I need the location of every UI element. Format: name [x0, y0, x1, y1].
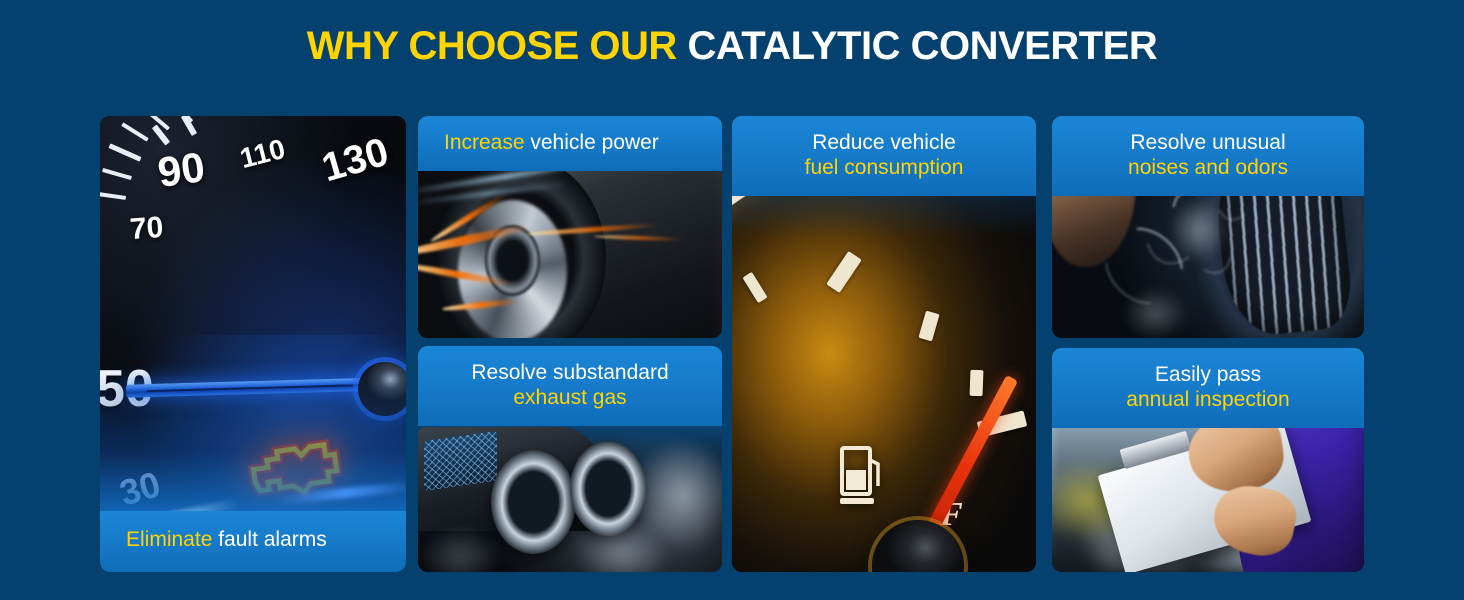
caption-line-2: noises and odors [1068, 155, 1348, 180]
card-reduce-vehicle-fuel-consumption[interactable]: F Reduce vehicle fuel consumption [732, 116, 1036, 572]
fuel-pump-icon [838, 446, 884, 508]
infographic-banner: WHY CHOOSE OUR CATALYTIC CONVERTER 130 1… [0, 0, 1464, 600]
card-resolve-unusual-noises-and-odors[interactable]: Resolve unusual noises and odors [1052, 116, 1364, 338]
card-caption-resolve-unusual-noises-and-odors: Resolve unusual noises and odors [1052, 116, 1364, 196]
card-caption-easily-pass-annual-inspection: Easily pass annual inspection [1052, 348, 1364, 428]
card-caption-eliminate-fault-alarms: Eliminate fault alarms [100, 511, 406, 572]
speedometer-image: 130 110 90 70 50 30 [100, 116, 406, 572]
title-highlight: WHY CHOOSE OUR [307, 24, 677, 68]
caption-line-1: Reduce vehicle [748, 130, 1020, 155]
caption-text: fault alarms [212, 528, 326, 551]
caption-text: vehicle power [525, 131, 659, 154]
caption-line-1: Resolve unusual [1068, 130, 1348, 155]
page-title: WHY CHOOSE OUR CATALYTIC CONVERTER [0, 24, 1464, 69]
card-caption-resolve-substandard-exhaust-gas: Resolve substandard exhaust gas [418, 346, 722, 426]
card-increase-vehicle-power[interactable]: Increase vehicle power [418, 116, 722, 338]
caption-line-2: fuel consumption [748, 155, 1020, 180]
speedometer-tick-90: 90 [155, 143, 208, 197]
caption-line-1: Resolve substandard [434, 360, 706, 385]
speedometer-tick-70: 70 [129, 211, 165, 247]
caption-highlight: Increase [444, 131, 525, 154]
caption-line-2: annual inspection [1068, 387, 1348, 412]
card-eliminate-fault-alarms[interactable]: 130 110 90 70 50 30 Eliminate fault alar… [100, 116, 406, 572]
caption-line-2: exhaust gas [434, 385, 706, 410]
card-resolve-substandard-exhaust-gas[interactable]: Resolve substandard exhaust gas [418, 346, 722, 572]
card-easily-pass-annual-inspection[interactable]: Easily pass annual inspection [1052, 348, 1364, 572]
title-rest: CATALYTIC CONVERTER [687, 24, 1157, 68]
caption-highlight: Eliminate [126, 528, 212, 551]
card-caption-reduce-vehicle-fuel-consumption: Reduce vehicle fuel consumption [732, 116, 1036, 196]
card-caption-increase-vehicle-power: Increase vehicle power [418, 116, 722, 171]
caption-line-1: Easily pass [1068, 362, 1348, 387]
